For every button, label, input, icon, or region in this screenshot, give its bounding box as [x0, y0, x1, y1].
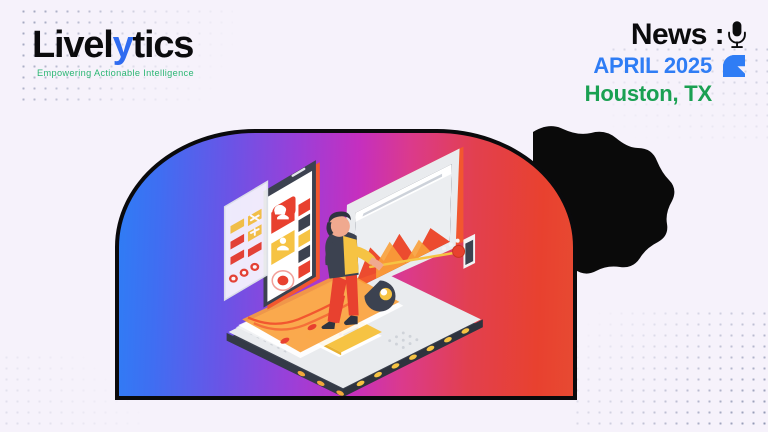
date-row: APRIL 2025: [585, 52, 748, 80]
event-location-label: Houston, TX: [585, 83, 712, 105]
hero-gradient-arch: [115, 129, 577, 400]
news-heading-row: News :: [585, 20, 748, 50]
header-info-block: News : APRIL 2025 Houston, TX: [585, 20, 748, 105]
microphone-icon: [726, 20, 748, 50]
brand-tagline: Empowering Actionable Intelligence: [37, 68, 252, 78]
event-date-label: APRIL 2025: [593, 55, 712, 77]
isometric-data-analytics-illustration: [119, 133, 573, 396]
wordmark-suffix: tics: [133, 24, 194, 66]
dot-pattern-bottom-right: [572, 308, 768, 432]
wordmark-prefix: Livel: [32, 24, 113, 66]
news-label: News :: [631, 20, 724, 50]
brand-logo[interactable]: Livelytics Empowering Actionable Intelli…: [32, 26, 252, 78]
brand-wordmark: Livelytics: [32, 26, 252, 64]
speech-bubble-icon: [720, 52, 748, 80]
wordmark-accent-letter: y: [113, 24, 133, 66]
poster-canvas: Livelytics Empowering Actionable Intelli…: [0, 0, 768, 432]
